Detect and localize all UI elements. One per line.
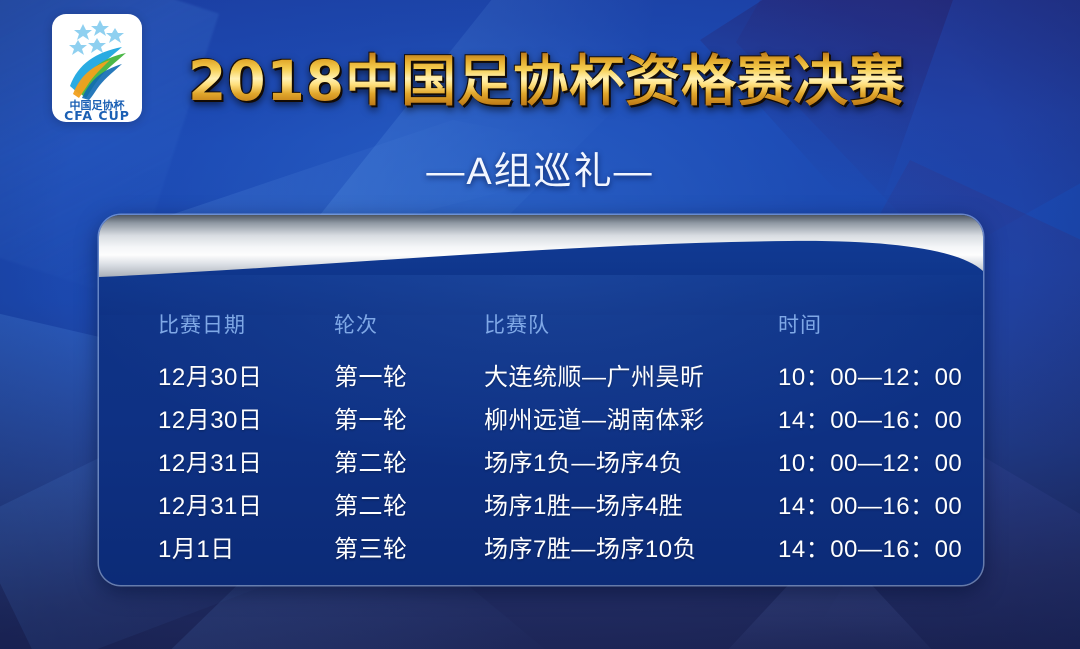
row-date: 12月31日 [158, 443, 262, 478]
column-header-time: 时间 [778, 309, 822, 339]
row-teams: 大连统顺—广州昊昕 [484, 357, 705, 392]
table-row: 12月31日 第二轮 场序1负—场序4负 10：00—12：00 [99, 439, 983, 481]
row-time: 14：00—16：00 [778, 529, 962, 564]
page-subtitle: —A组巡礼— [0, 140, 1080, 195]
row-date: 12月30日 [158, 400, 262, 435]
table-row: 12月30日 第一轮 柳州远道—湖南体彩 14：00—16：00 [99, 396, 983, 438]
schedule-panel: 比赛日期 轮次 比赛队 时间 12月30日 第一轮 大连统顺—广州昊昕 10：0… [99, 215, 983, 585]
row-date: 12月31日 [158, 486, 262, 521]
cfa-cup-logo-mark: 中国足协杯 CFA CUP [52, 14, 142, 122]
schedule-table: 比赛日期 轮次 比赛队 时间 12月30日 第一轮 大连统顺—广州昊昕 10：0… [99, 215, 983, 585]
row-round: 第三轮 [334, 529, 408, 564]
page-title: 2018中国足协杯资格赛决赛 [188, 52, 908, 110]
row-teams: 柳州远道—湖南体彩 [484, 400, 705, 435]
table-row: 12月30日 第一轮 大连统顺—广州昊昕 10：00—12：00 [99, 353, 983, 395]
column-header-round: 轮次 [334, 309, 378, 339]
logo-english-text: CFA CUP [64, 108, 130, 122]
column-header-teams: 比赛队 [484, 309, 550, 339]
table-row: 12月31日 第二轮 场序1胜—场序4胜 14：00—16：00 [99, 482, 983, 524]
row-time: 10：00—12：00 [778, 357, 962, 392]
row-date: 12月30日 [158, 357, 262, 392]
row-round: 第一轮 [334, 357, 408, 392]
row-time: 14：00—16：00 [778, 486, 962, 521]
row-date: 1月1日 [158, 529, 235, 564]
cfa-cup-logo: 中国足协杯 CFA CUP [52, 14, 142, 122]
row-teams: 场序1负—场序4负 [484, 443, 683, 478]
poster-stage: 中国足协杯 CFA CUP 2018中国足协杯资格赛决赛 —A组巡礼— 比赛日期… [0, 0, 1080, 649]
row-time: 14：00—16：00 [778, 400, 962, 435]
row-teams: 场序1胜—场序4胜 [484, 486, 683, 521]
table-row: 1月1日 第三轮 场序7胜—场序10负 14：00—16：00 [99, 525, 983, 567]
row-round: 第二轮 [334, 486, 408, 521]
row-teams: 场序7胜—场序10负 [484, 529, 697, 564]
row-round: 第二轮 [334, 443, 408, 478]
table-header-row: 比赛日期 轮次 比赛队 时间 [99, 303, 983, 345]
row-round: 第一轮 [334, 400, 408, 435]
column-header-date: 比赛日期 [158, 309, 246, 339]
row-time: 10：00—12：00 [778, 443, 962, 478]
